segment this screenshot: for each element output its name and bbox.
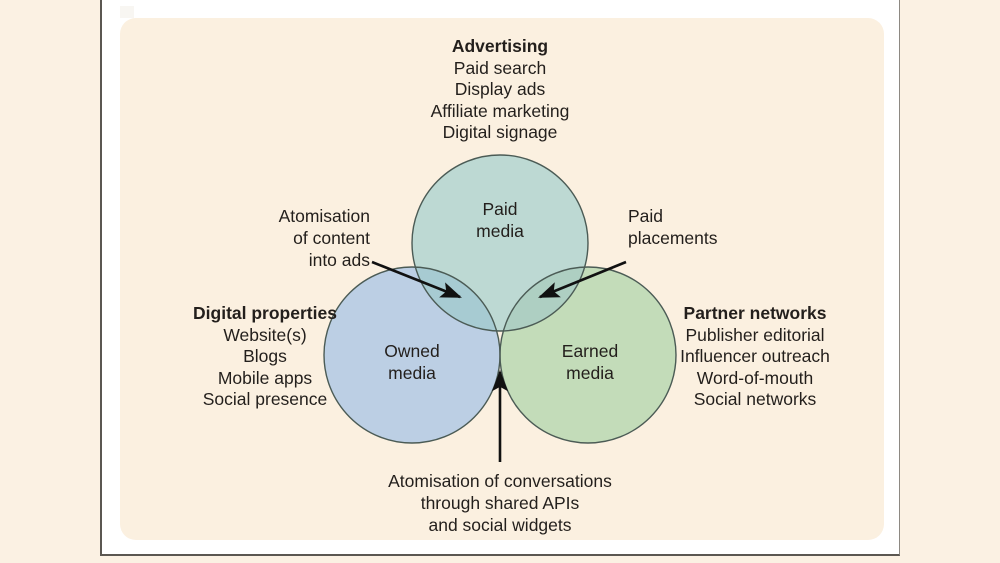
text-block-digital-properties-item: Mobile apps [170,368,360,390]
text-block-advertising-heading: Advertising [390,36,610,58]
text-block-partner-networks-heading: Partner networks [655,303,855,325]
callout-atomisation-of-content: Atomisation of content into ads [175,205,370,271]
callout-atomisation-of-conversations-line: and social widgets [360,514,640,536]
callout-paid-placements-line: Paid [628,205,818,227]
text-block-advertising-item: Digital signage [390,122,610,144]
circle-label-owned-media-line1: Owned [352,340,472,362]
callout-atomisation-of-content-line: Atomisation [175,205,370,227]
callout-atomisation-of-conversations-line: through shared APIs [360,492,640,514]
text-block-advertising-item: Affiliate marketing [390,101,610,123]
text-block-digital-properties-heading: Digital properties [170,303,360,325]
callout-atomisation-of-conversations-line: Atomisation of conversations [360,470,640,492]
text-block-advertising-item: Display ads [390,79,610,101]
text-block-digital-properties-item: Social presence [170,389,360,411]
circle-label-paid-media-line2: media [440,220,560,242]
text-block-digital-properties: Digital properties Website(s) Blogs Mobi… [170,303,360,411]
callout-paid-placements: Paid placements [628,205,818,249]
circle-label-paid-media: Paid media [440,198,560,242]
circle-label-earned-media-line2: media [530,362,650,384]
text-block-advertising: Advertising Paid search Display ads Affi… [390,36,610,144]
callout-paid-placements-line: placements [628,227,818,249]
text-block-digital-properties-item: Blogs [170,346,360,368]
corner-artifact [120,6,134,18]
text-block-partner-networks-item: Influencer outreach [655,346,855,368]
callout-atomisation-of-content-line: into ads [175,249,370,271]
circle-label-owned-media-line2: media [352,362,472,384]
page-background: Paid media Owned media Earned media Adve… [0,0,1000,563]
circle-label-earned-media: Earned media [530,340,650,384]
callout-atomisation-of-conversations: Atomisation of conversations through sha… [360,470,640,536]
callout-atomisation-of-content-line: of content [175,227,370,249]
text-block-advertising-item: Paid search [390,58,610,80]
circle-label-owned-media: Owned media [352,340,472,384]
text-block-partner-networks-item: Social networks [655,389,855,411]
circle-label-earned-media-line1: Earned [530,340,650,362]
circle-label-paid-media-line1: Paid [440,198,560,220]
text-block-partner-networks-item: Publisher editorial [655,325,855,347]
text-block-partner-networks-item: Word-of-mouth [655,368,855,390]
text-block-partner-networks: Partner networks Publisher editorial Inf… [655,303,855,411]
text-block-digital-properties-item: Website(s) [170,325,360,347]
